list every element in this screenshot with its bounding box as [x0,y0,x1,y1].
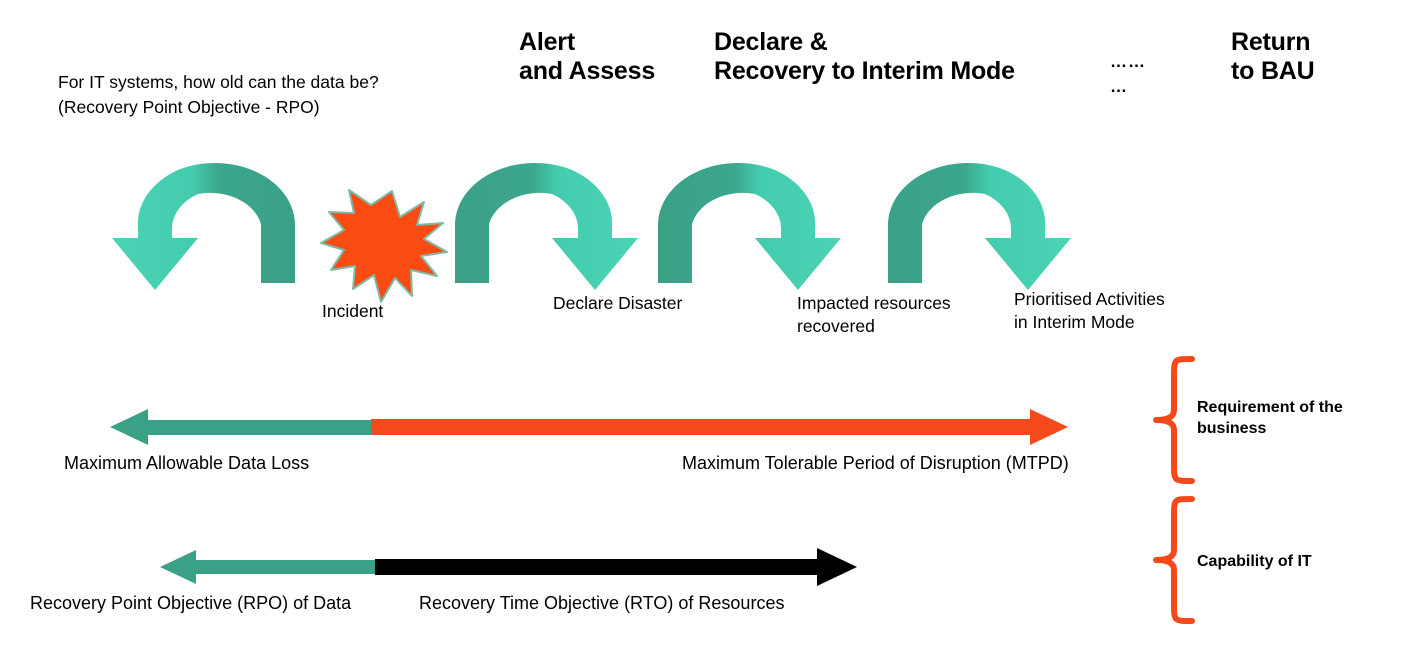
node-label-incident: Incident [322,300,482,323]
brace-label-capability-of-it: Capability of IT [1197,551,1377,572]
arrow-label-rto-of-resources: Recovery Time Objective (RTO) of Resourc… [419,592,784,615]
arrow-label-mtpd: Maximum Tolerable Period of Disruption (… [682,452,1069,475]
mtpd-arrow [371,409,1068,445]
arc-2-right-pointing [455,163,638,290]
incident-starburst-icon [321,190,447,302]
phase-heading-return-to-bau: Return to BAU [1231,28,1411,87]
rto-arrow [375,548,857,586]
brace-capability-of-it-icon [1152,496,1196,624]
brace-label-requirement-of-business: Requirement of the business [1197,397,1377,440]
node-label-impacted-resources-recovered: Impacted resources recovered [797,292,997,338]
node-label-prioritised-activities: Prioritised Activities in Interim Mode [1014,288,1214,334]
arc-1-left-pointing [112,163,295,290]
rpo-arrow [160,550,375,584]
arrow-label-rpo-of-data: Recovery Point Objective (RPO) of Data [30,592,351,615]
phase-heading-alert-and-assess: Alert and Assess [519,28,719,87]
phase-heading-ellipsis: …… … [1110,50,1190,99]
brace-requirement-of-business-icon [1152,356,1196,484]
intro-text-rpo-question: For IT systems, how old can the data be?… [58,70,518,120]
diagram-canvas: Alert and Assess Declare & Recovery to I… [0,0,1417,667]
node-label-declare-disaster: Declare Disaster [553,292,763,315]
phase-heading-declare-and-recovery: Declare & Recovery to Interim Mode [714,28,1054,87]
arc-sequence-graphic [0,150,1200,310]
max-allowable-data-loss-arrow [110,409,371,445]
it-timeline-arrows [160,545,870,590]
arrow-label-max-allowable-data-loss: Maximum Allowable Data Loss [64,452,309,475]
business-timeline-arrows [110,405,1075,450]
arc-3-right-pointing [658,163,841,290]
arc-4-right-pointing [888,163,1071,290]
